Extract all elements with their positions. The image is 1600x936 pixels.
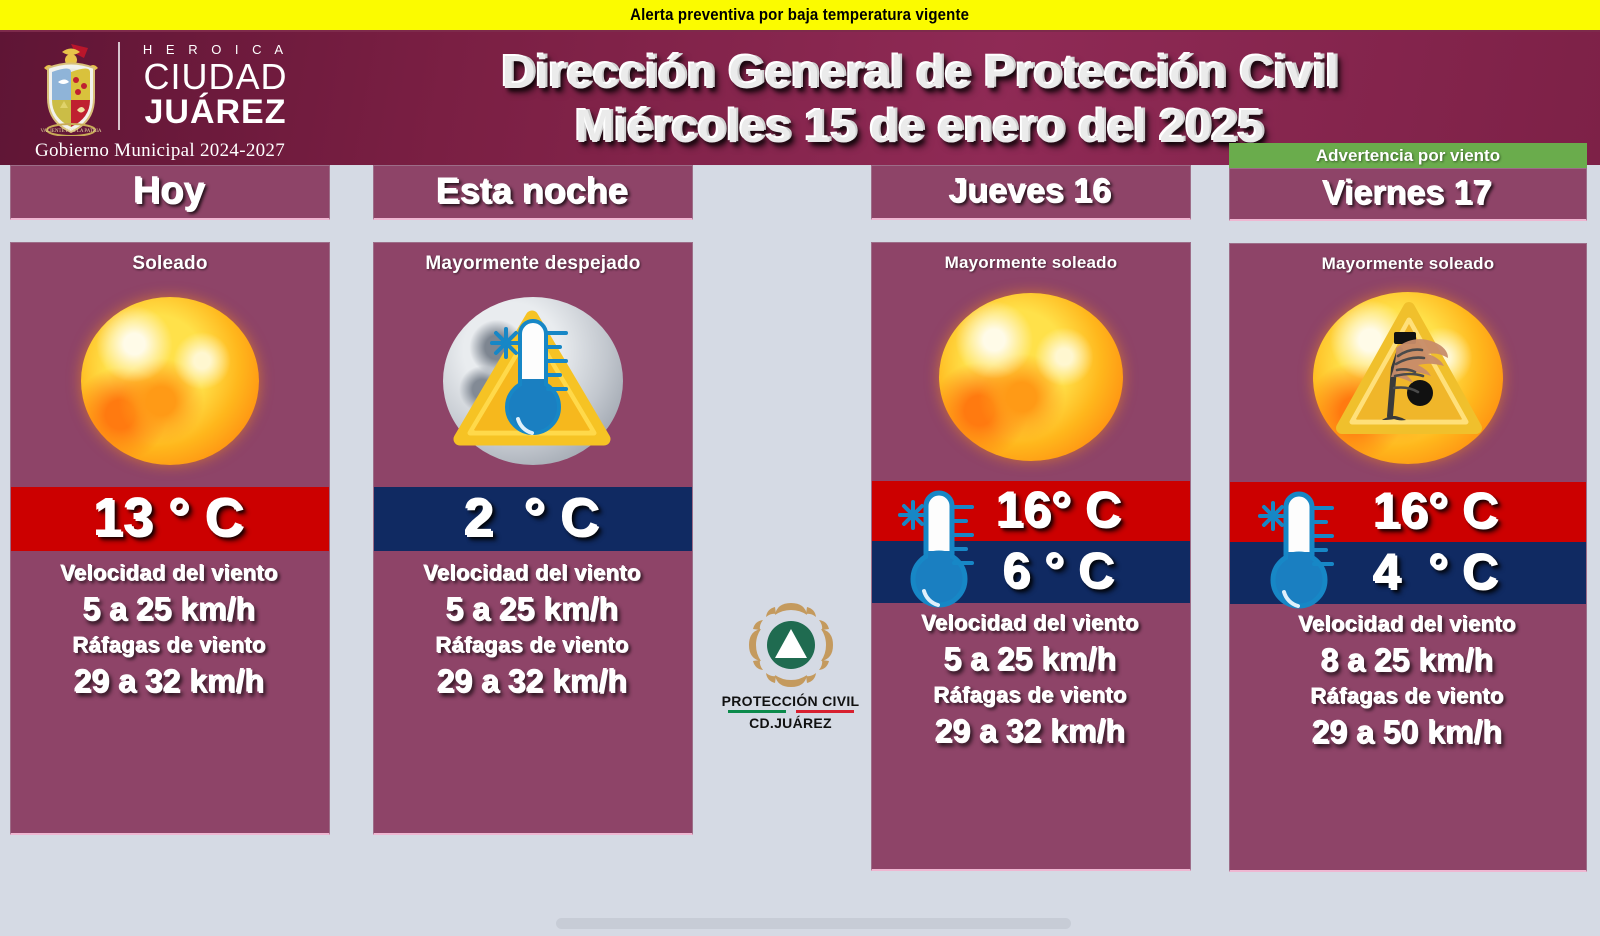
card-weather-icon-area	[374, 275, 692, 487]
forecast-board: Hoy Soleado 13 ° C Velocidad del viento …	[0, 165, 1600, 936]
forecast-card-esta-noche[interactable]: Esta noche Mayormente despejado	[373, 165, 693, 835]
card-day-header: Viernes 17	[1229, 168, 1587, 221]
brand-ciudad: CIUDAD	[128, 60, 303, 94]
card-body: Mayormente soleado 16° C 6 ° C	[871, 242, 1191, 871]
card-condition-label: Mayormente despejado	[374, 243, 692, 275]
temp-band-low: 4 ° C	[1230, 542, 1586, 604]
wind-warning-tree-icon	[1334, 298, 1484, 438]
card-condition-label: Mayormente soleado	[872, 243, 1190, 273]
proteccion-civil-logo: PROTECCIÓN CIVIL CD.JUÁREZ	[703, 599, 878, 731]
sun-icon	[939, 293, 1123, 461]
wind-info: Velocidad del viento 5 a 25 km/h Ráfagas…	[11, 551, 329, 703]
brand-divider	[118, 42, 120, 130]
sun-icon	[81, 297, 259, 465]
wind-gusts-label: Ráfagas de viento	[872, 681, 1190, 711]
temp-band-low: 6 ° C	[872, 541, 1190, 603]
wind-gusts-value: 29 a 32 km/h	[374, 661, 692, 703]
card-day-label: Hoy	[134, 171, 206, 214]
wind-speed-value: 5 a 25 km/h	[374, 589, 692, 631]
card-body: Mayormente soleado	[1229, 243, 1587, 872]
temp-high-value: 13 ° C	[95, 488, 246, 550]
preventive-alert-bar: Alerta preventiva por baja temperatura v…	[0, 0, 1600, 32]
wind-speed-value: 8 a 25 km/h	[1230, 640, 1586, 682]
cold-warning-thermometer-icon	[452, 307, 612, 447]
card-day-label: Viernes 17	[1323, 175, 1493, 214]
wind-info: Velocidad del viento 5 a 25 km/h Ráfagas…	[872, 603, 1190, 753]
forecast-card-jueves-16[interactable]: Jueves 16 Mayormente soleado 16° C 6 ° C	[871, 165, 1191, 871]
temp-band-high: 13 ° C	[11, 487, 329, 551]
wind-gusts-label: Ráfagas de viento	[11, 631, 329, 661]
card-day-header: Hoy	[10, 165, 330, 220]
card-day-header: Jueves 16	[871, 165, 1191, 220]
wind-speed-value: 5 a 25 km/h	[872, 639, 1190, 681]
card-weather-icon-area	[1230, 274, 1586, 482]
scrollbar-thumb[interactable]	[556, 918, 1071, 929]
card-weather-icon-area	[11, 275, 329, 487]
wind-info: Velocidad del viento 8 a 25 km/h Ráfagas…	[1230, 604, 1586, 754]
forecast-card-viernes-17[interactable]: Advertencia por viento Viernes 17 Mayorm…	[1229, 143, 1587, 872]
rule-green	[728, 710, 786, 713]
logo-name: PROTECCIÓN CIVIL	[703, 693, 878, 709]
wind-gusts-value: 29 a 50 km/h	[1230, 712, 1586, 754]
brand-gobierno-municipal: Gobierno Municipal 2024-2027	[20, 140, 300, 162]
cold-thermometer-icon	[1252, 486, 1348, 621]
wind-gusts-value: 29 a 32 km/h	[872, 711, 1190, 753]
wind-gusts-label: Ráfagas de viento	[374, 631, 692, 661]
card-condition-label: Mayormente soleado	[1230, 244, 1586, 274]
logo-city: CD.JUÁREZ	[703, 715, 878, 731]
wind-speed-label: Velocidad del viento	[374, 559, 692, 589]
rule-red	[796, 710, 854, 713]
card-body: Soleado 13 ° C Velocidad del viento 5 a …	[10, 242, 330, 835]
card-day-label: Esta noche	[437, 171, 629, 213]
card-weather-icon-area	[872, 273, 1190, 481]
juarez-coat-of-arms-icon: VALIENTE POR LA PATRIA	[32, 38, 110, 136]
svg-text:VALIENTE POR LA PATRIA: VALIENTE POR LA PATRIA	[41, 129, 102, 134]
page-title: Dirección General de Protección Civil	[501, 45, 1338, 99]
municipal-brand: VALIENTE POR LA PATRIA H E R O I C A CIU…	[0, 32, 300, 165]
cold-thermometer-icon	[892, 485, 988, 620]
wind-warning-label: Advertencia por viento	[1316, 146, 1500, 165]
card-condition-label: Soleado	[11, 243, 329, 275]
temp-band-low: 2 ° C	[374, 487, 692, 551]
wind-speed-label: Velocidad del viento	[11, 559, 329, 589]
preventive-alert-text: Alerta preventiva por baja temperatura v…	[631, 5, 970, 25]
wind-info: Velocidad del viento 5 a 25 km/h Ráfagas…	[374, 551, 692, 703]
temp-low-value: 2 ° C	[465, 488, 601, 550]
horizontal-scrollbar[interactable]	[0, 910, 1600, 934]
forecast-card-hoy[interactable]: Hoy Soleado 13 ° C Velocidad del viento …	[10, 165, 330, 835]
brand-juarez: JUÁREZ	[128, 94, 303, 130]
page-date: Miércoles 15 de enero del 2025	[576, 99, 1265, 153]
card-day-label: Jueves 16	[950, 173, 1113, 212]
logo-tricolor-rule	[703, 710, 878, 713]
card-body: Mayormente despejado	[373, 242, 693, 835]
brand-wordmark: H E R O I C A CIUDAD JUÁREZ	[128, 40, 303, 130]
wind-gusts-value: 29 a 32 km/h	[11, 661, 329, 703]
wind-warning-banner: Advertencia por viento	[1229, 143, 1587, 168]
wind-gusts-label: Ráfagas de viento	[1230, 682, 1586, 712]
wind-speed-value: 5 a 25 km/h	[11, 589, 329, 631]
card-day-header: Esta noche	[373, 165, 693, 220]
proteccion-civil-emblem-icon	[745, 599, 837, 691]
